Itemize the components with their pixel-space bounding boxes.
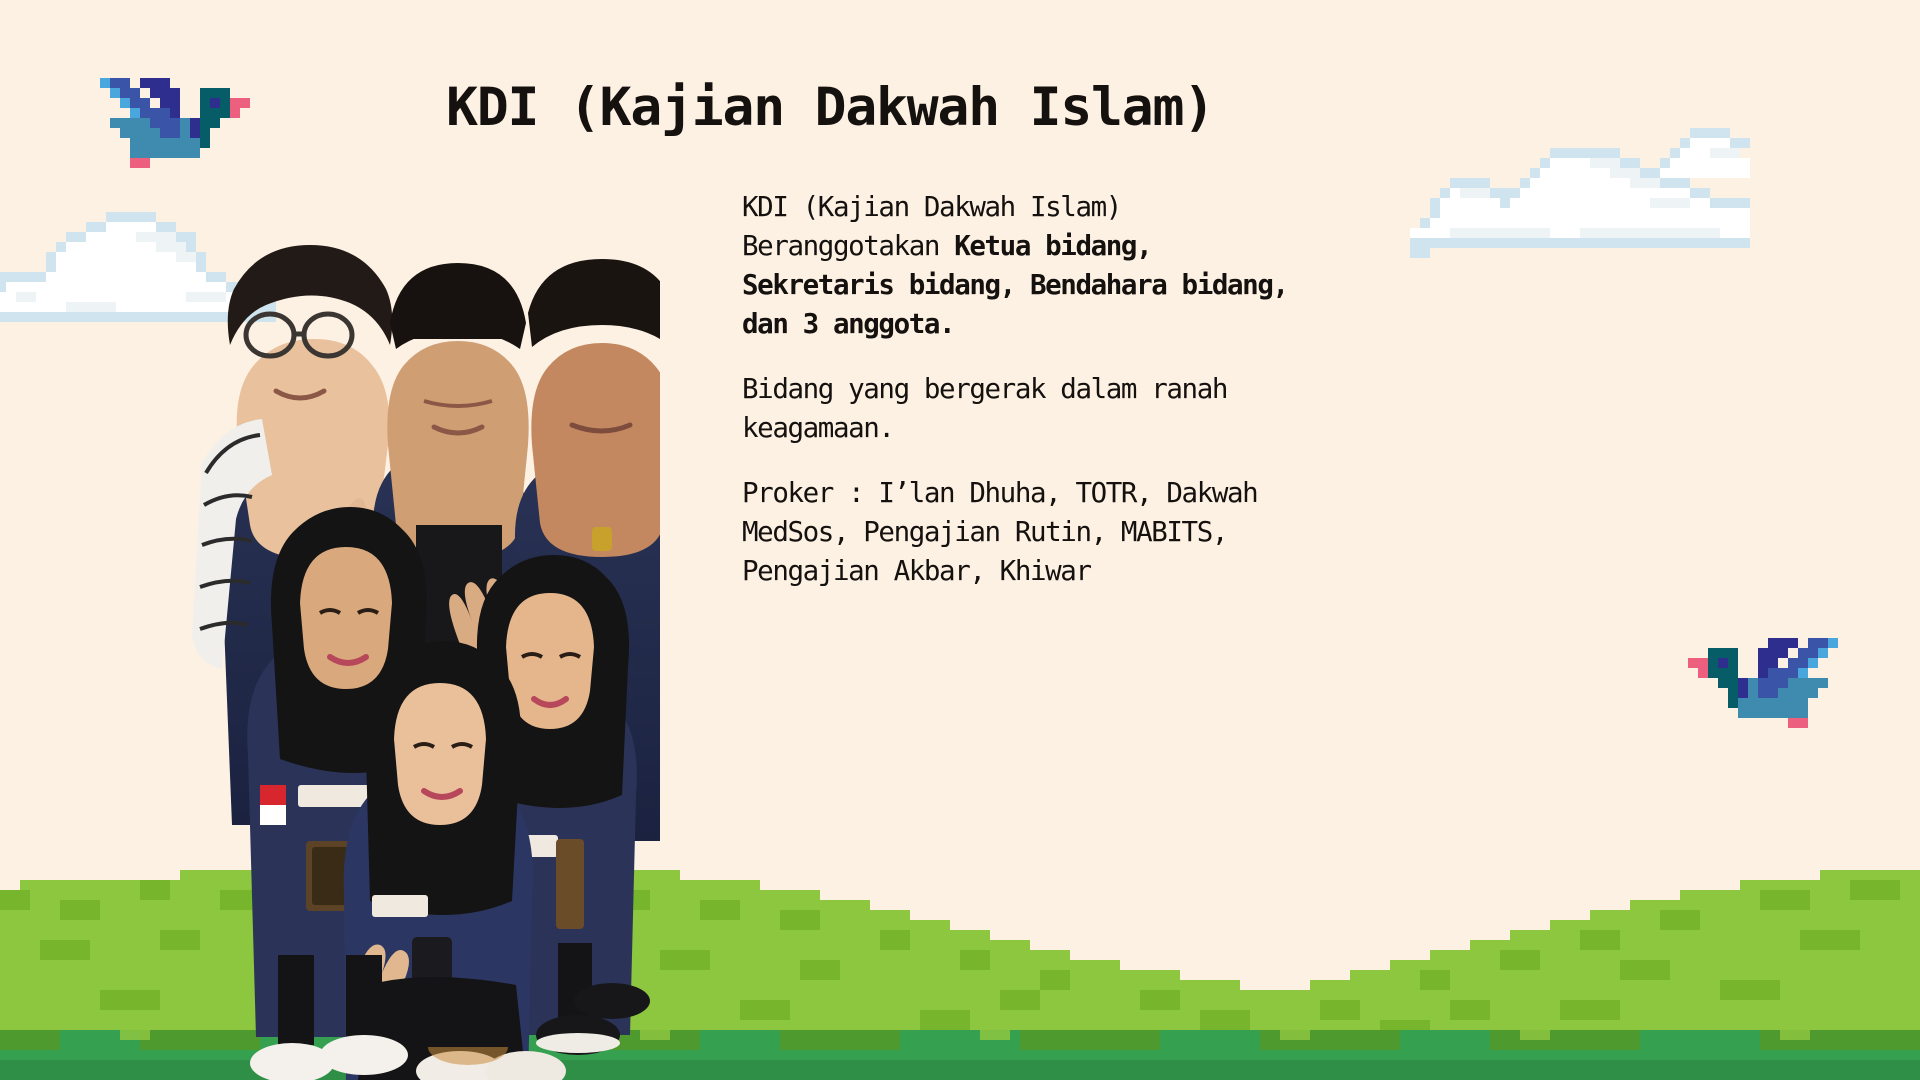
line-text-bold: Ketua bidang, [954, 230, 1151, 262]
line-text: Bidang yang bergerak dalam ranah [742, 373, 1227, 405]
line-text: MedSos, Pengajian Rutin, MABITS, [742, 516, 1227, 548]
slide-canvas: KDI (Kajian Dakwah Islam) KDI (Kajian Da… [0, 0, 1920, 1080]
line-text: Proker : I’lan Dhuha, TOTR, Dakwah [742, 477, 1257, 509]
paragraph-composition: KDI (Kajian Dakwah Islam) Beranggotakan … [742, 188, 1442, 344]
kdi-group-photo [160, 195, 660, 1080]
line-text: keagamaan. [742, 412, 894, 444]
paragraph-line: Proker : I’lan Dhuha, TOTR, Dakwah [742, 474, 1442, 513]
paragraph-line: Bidang yang bergerak dalam ranah [742, 370, 1442, 409]
paragraph-line: KDI (Kajian Dakwah Islam) [742, 188, 1442, 227]
paragraph-line: keagamaan. [742, 409, 1442, 448]
paragraph-line: dan 3 anggota. [742, 305, 1442, 344]
line-text-bold: Sekretaris bidang, Bendahara bidang, [742, 269, 1288, 301]
pixel-bird-top-left [80, 68, 250, 168]
line-text: Pengajian Akbar, Khiwar [742, 555, 1091, 587]
description-body: KDI (Kajian Dakwah Islam) Beranggotakan … [742, 188, 1442, 591]
paragraph-line: Beranggotakan Ketua bidang, [742, 227, 1442, 266]
page-title: KDI (Kajian Dakwah Islam) [430, 80, 1230, 136]
paragraph-programs: Proker : I’lan Dhuha, TOTR, Dakwah MedSo… [742, 474, 1442, 591]
pixel-bird-bottom-right [1688, 628, 1858, 728]
paragraph-scope: Bidang yang bergerak dalam ranah keagama… [742, 370, 1442, 448]
line-text: KDI (Kajian Dakwah Islam) [742, 191, 1121, 223]
paragraph-line: MedSos, Pengajian Rutin, MABITS, [742, 513, 1442, 552]
paragraph-line: Pengajian Akbar, Khiwar [742, 552, 1442, 591]
line-text-bold: dan 3 anggota. [742, 308, 954, 340]
paragraph-line: Sekretaris bidang, Bendahara bidang, [742, 266, 1442, 305]
line-text: Beranggotakan [742, 230, 954, 262]
